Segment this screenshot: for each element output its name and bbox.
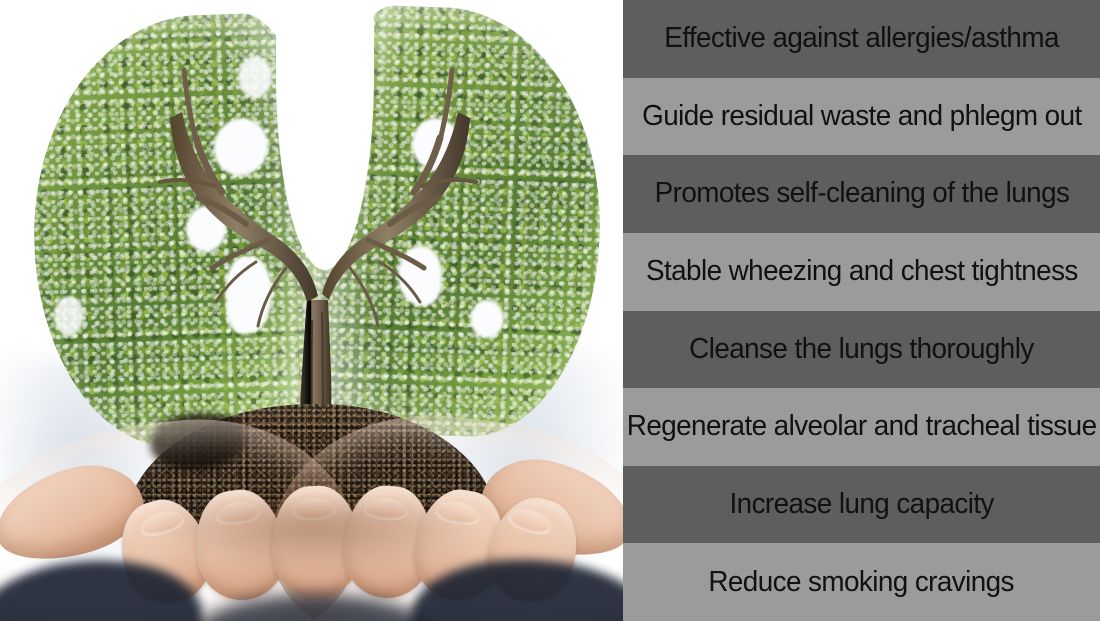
benefit-label: Effective against allergies/asthma <box>664 23 1059 54</box>
benefit-label: Cleanse the lungs thoroughly <box>689 334 1033 365</box>
benefit-row-6: Regenerate alveolar and tracheal tissue <box>623 388 1100 466</box>
benefit-row-7: Increase lung capacity <box>623 466 1100 544</box>
benefit-label: Guide residual waste and phlegm out <box>642 101 1082 132</box>
benefit-label: Increase lung capacity <box>729 489 993 520</box>
benefit-label: Regenerate alveolar and tracheal tissue <box>627 411 1097 442</box>
benefit-label: Reduce smoking cravings <box>709 567 1015 598</box>
benefit-row-5: Cleanse the lungs thoroughly <box>623 311 1100 389</box>
lung-tree-photo <box>0 0 623 621</box>
benefit-row-8: Reduce smoking cravings <box>623 543 1100 621</box>
benefit-row-1: Effective against allergies/asthma <box>623 0 1100 78</box>
palm-shadow <box>150 500 480 570</box>
benefit-row-2: Guide residual waste and phlegm out <box>623 78 1100 156</box>
benefit-row-4: Stable wheezing and chest tightness <box>623 233 1100 311</box>
benefit-row-3: Promotes self-cleaning of the lungs <box>623 155 1100 233</box>
lung-health-poster: Effective against allergies/asthma Guide… <box>0 0 1100 621</box>
benefits-panel: Effective against allergies/asthma Guide… <box>623 0 1100 621</box>
benefit-label: Stable wheezing and chest tightness <box>646 256 1078 287</box>
benefit-label: Promotes self-cleaning of the lungs <box>654 178 1069 209</box>
